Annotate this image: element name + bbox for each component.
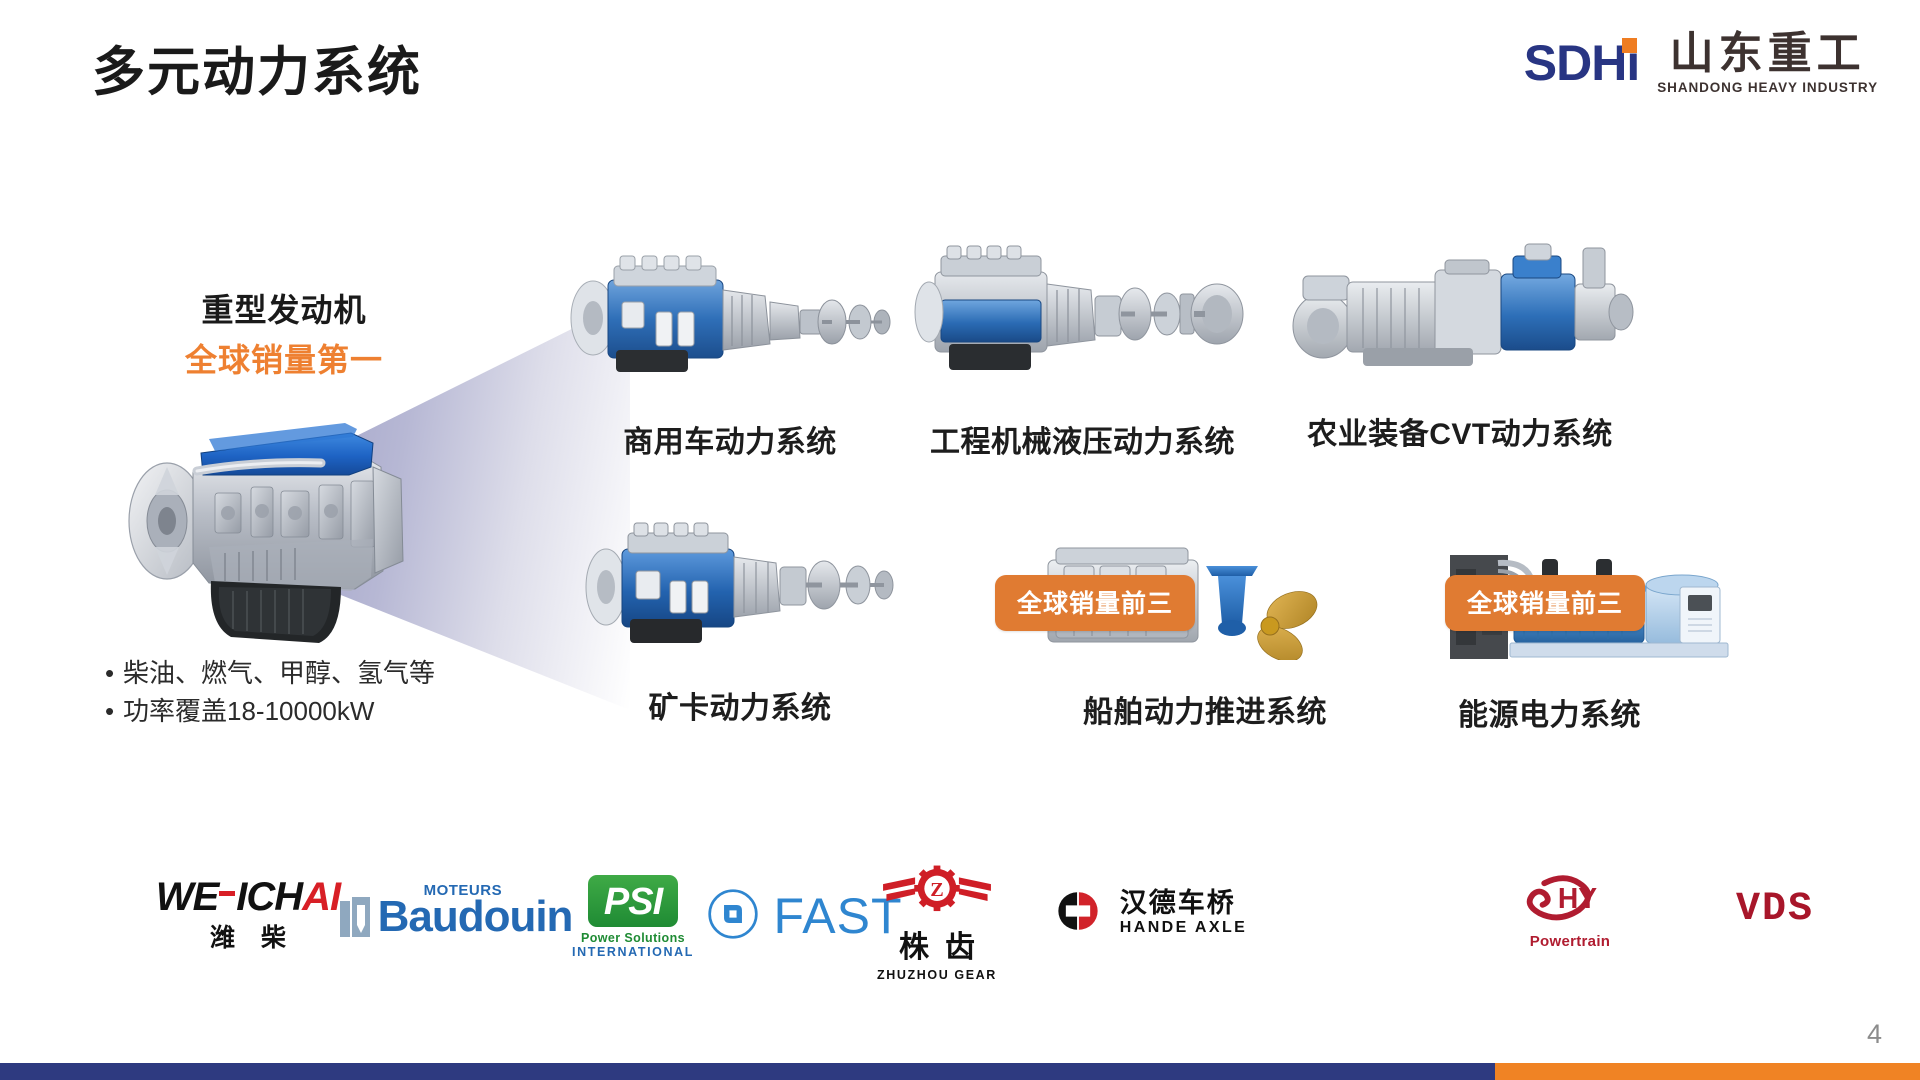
logo-i-dot-icon: [1622, 38, 1637, 53]
zhuzhou-gear-cn-name: 株齿: [883, 922, 991, 966]
product-label-construction-hydraulic: 工程机械液压动力系统: [905, 417, 1260, 461]
zhuzhou-gear-en-name: ZHUZHOU GEAR: [877, 968, 997, 982]
product-label-agriculture-cvt: 农业装备CVT动力系统: [1285, 409, 1635, 453]
footer-bar-blue: [0, 1063, 1495, 1080]
footer-bar-orange: [1495, 1063, 1920, 1080]
list-item: • 功率覆盖18-10000kW: [105, 693, 435, 731]
page-number: 4: [1867, 1019, 1882, 1050]
product-image-mining-truck: [580, 505, 900, 665]
partner-logo-hande-axle: 汉德车桥 HANDE AXLE: [1028, 889, 1268, 937]
hero-bullet-list: • 柴油、燃气、甲醇、氢气等 • 功率覆盖18-10000kW: [105, 655, 435, 730]
partner-logo-psi: PSI Power Solutions INTERNATIONAL: [553, 875, 713, 959]
list-item: • 柴油、燃气、甲醇、氢气等: [105, 655, 435, 693]
baudouin-emblem-icon: [338, 895, 372, 939]
page-title: 多元动力系统: [92, 30, 422, 106]
psi-sub-line2: INTERNATIONAL: [572, 945, 694, 959]
product-image-agriculture-cvt: [1285, 230, 1635, 395]
product-card-mining-truck[interactable]: 矿卡动力系统: [580, 505, 900, 727]
status-badge-marine: 全球销量前三: [995, 575, 1195, 631]
product-card-construction-hydraulic[interactable]: 工程机械液压动力系统: [905, 238, 1260, 461]
psi-sub-line1: Power Solutions: [581, 931, 685, 945]
weichai-latin-mark: WEICHAI: [156, 875, 340, 920]
logo-chinese-block: 山东重工 SHANDONG HEAVY INDUSTRY: [1657, 32, 1878, 95]
product-card-marine-propulsion[interactable]: 全球销量前三 船舶动力推进系统: [1030, 540, 1380, 731]
fast-swirl-icon: [707, 888, 759, 945]
product-label-marine-propulsion: 船舶动力推进系统: [1030, 687, 1380, 731]
logo-brand-en: SHANDONG HEAVY INDUSTRY: [1657, 80, 1878, 95]
partner-logo-vds: VDS: [1695, 887, 1855, 932]
hande-axle-cn-name: 汉德车桥: [1120, 889, 1236, 917]
partner-logo-strip: WEICHAI 潍柴 MOTEURS Baudouin: [0, 865, 1920, 985]
product-image-construction-hydraulic: [905, 238, 1260, 395]
psi-name: PSI: [604, 881, 662, 923]
partner-logo-lhy: HY Powertrain: [1480, 871, 1660, 950]
bullet-dot-icon: •: [105, 693, 123, 731]
hande-axle-emblem-icon: [1049, 890, 1107, 937]
slide-canvas: 多元动力系统 SDHi 山东重工 SHANDONG HEAVY INDUSTRY…: [0, 0, 1920, 1080]
svg-text:Z: Z: [930, 879, 944, 901]
psi-badge: PSI: [588, 875, 678, 927]
product-label-energy-power: 能源电力系统: [1440, 690, 1790, 734]
product-label-commercial-vehicle: 商用车动力系统: [560, 417, 900, 461]
bullet-dot-icon: •: [105, 655, 123, 693]
partner-logo-zhuzhou-gear: Z 株齿 ZHUZHOU GEAR: [862, 865, 1012, 982]
status-badge-energy: 全球销量前三: [1445, 575, 1645, 631]
partner-logo-baudouin: MOTEURS Baudouin: [345, 883, 565, 939]
weichai-bar-icon: [219, 891, 235, 896]
product-card-energy-power[interactable]: 全球销量前三 能源电力系统: [1440, 545, 1790, 734]
hero-headline-black: 重型发动机: [185, 285, 383, 331]
product-card-commercial-vehicle[interactable]: 商用车动力系统: [560, 240, 900, 461]
hero-headline: 重型发动机 全球销量第一: [185, 285, 383, 381]
hande-axle-en-name: HANDE AXLE: [1120, 919, 1247, 937]
footer-bar: [0, 1063, 1920, 1080]
baudouin-name: Baudouin: [378, 895, 573, 939]
zhuzhou-gear-emblem-icon: Z: [878, 865, 996, 920]
weichai-cn-name: 潍柴: [184, 918, 312, 954]
partner-logo-weichai: WEICHAI 潍柴: [148, 875, 348, 954]
lhy-sub-text: Powertrain: [1530, 933, 1611, 950]
bullet-text: 功率覆盖18-10000kW: [123, 693, 374, 731]
product-card-agriculture-cvt[interactable]: 农业装备CVT动力系统: [1285, 230, 1635, 453]
vds-name: VDS: [1736, 887, 1814, 932]
svg-text:HY: HY: [1558, 882, 1597, 914]
company-logo: SDHi 山东重工 SHANDONG HEAVY INDUSTRY: [1524, 32, 1878, 95]
product-label-mining-truck: 矿卡动力系统: [580, 683, 900, 727]
logo-sdhi-mark: SDHi: [1524, 40, 1639, 88]
lhy-loop-icon: HY: [1516, 871, 1624, 932]
product-image-commercial-vehicle: [560, 240, 900, 395]
hero-engine-image: [105, 375, 425, 660]
logo-brand-cn: 山东重工: [1670, 32, 1866, 76]
bullet-text: 柴油、燃气、甲醇、氢气等: [123, 655, 435, 693]
